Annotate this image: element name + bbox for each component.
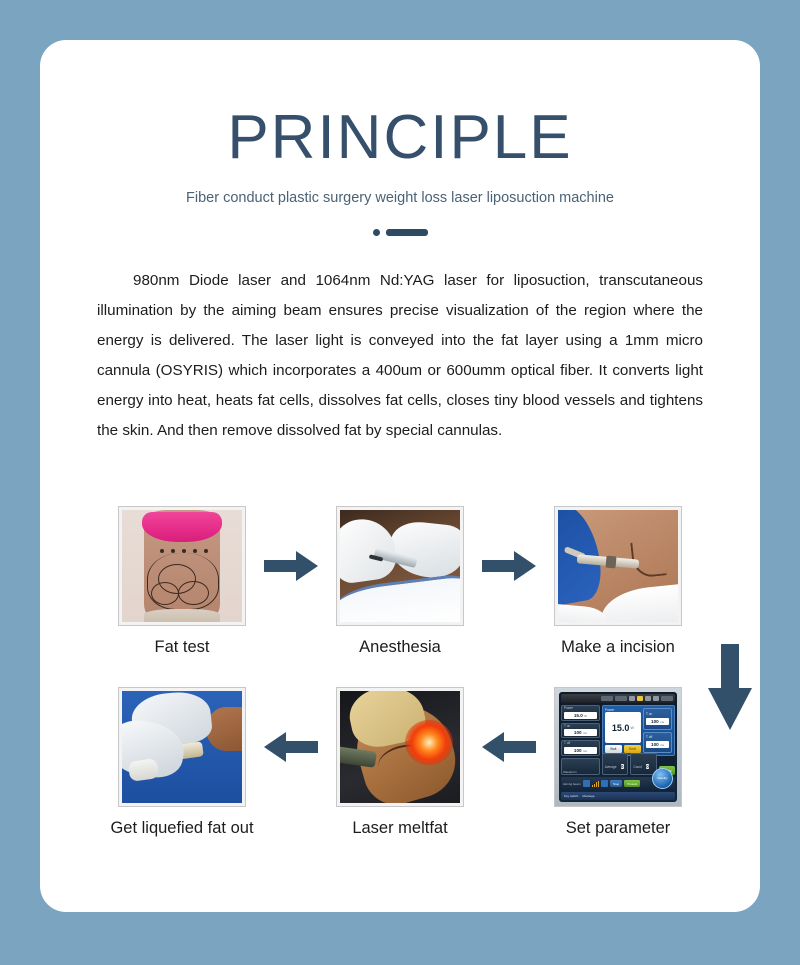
power-control-panel: Power 15.0W Wait Emit bbox=[602, 705, 675, 756]
count-label: Count bbox=[633, 765, 642, 769]
workflow-step-anesthesia: Anesthesia bbox=[327, 506, 473, 657]
page-title: PRINCIPLE bbox=[40, 40, 760, 170]
workflow-row-bottom: Get liquefied fat out bbox=[40, 687, 760, 838]
timing-readout-group: T on 100 ms T off 100 ms bbox=[643, 708, 672, 753]
arrow-right-icon bbox=[264, 551, 318, 581]
anesthesia-thumbnail bbox=[336, 506, 464, 626]
arrow-set-parameter-to-meltfat bbox=[473, 687, 545, 807]
presets-button[interactable]: Presets bbox=[624, 780, 640, 787]
page-subtitle: Fiber conduct plastic surgery weight los… bbox=[40, 170, 760, 206]
aiming-beam-toggle-icon[interactable] bbox=[583, 780, 590, 787]
t-off-value: 100 ms bbox=[646, 741, 669, 748]
incision-photo bbox=[558, 510, 678, 622]
set-parameter-caption: Set parameter bbox=[566, 819, 671, 838]
statusbar-icon bbox=[661, 696, 673, 701]
statusbar-icon bbox=[601, 696, 613, 701]
liquefied-fat-caption: Get liquefied fat out bbox=[110, 819, 253, 838]
arrow-meltfat-to-liquefied-fat bbox=[255, 687, 327, 807]
count-value: 0 bbox=[646, 764, 649, 769]
laser-meltfat-thumbnail bbox=[336, 687, 464, 807]
waveform-label: Waveform bbox=[563, 770, 577, 774]
fat-test-thumbnail bbox=[118, 506, 246, 626]
description-paragraph: 980nm Diode laser and 1064nm Nd:YAG lase… bbox=[40, 236, 760, 446]
divider-ornament bbox=[40, 206, 760, 236]
average-label: Average bbox=[605, 765, 617, 769]
divider-bar-icon bbox=[386, 229, 428, 236]
standby-button[interactable]: Standby bbox=[652, 768, 673, 789]
power-readout-group: Power 15.0W Wait Emit bbox=[605, 708, 641, 753]
side-t-off-label: T off bbox=[564, 742, 597, 746]
machine-message-bar: Key switch Message bbox=[561, 792, 675, 800]
incision-caption: Make a incision bbox=[561, 638, 675, 657]
average-control[interactable]: Average 0 bbox=[602, 753, 629, 775]
side-power-label: Power bbox=[564, 707, 597, 711]
aiming-beam-label: Aiming beam bbox=[563, 782, 581, 786]
workflow-step-laser-meltfat: Laser meltfat bbox=[327, 687, 473, 838]
arrow-left-icon bbox=[482, 732, 536, 762]
content-card: PRINCIPLE Fiber conduct plastic surgery … bbox=[40, 40, 760, 912]
message-status: Message bbox=[582, 794, 594, 798]
liquefied-fat-photo bbox=[122, 691, 242, 803]
t-on-control[interactable]: T on 100 ms bbox=[643, 708, 672, 730]
emit-button[interactable]: Emit bbox=[624, 745, 641, 753]
statusbar-icon bbox=[653, 696, 659, 701]
stop-button[interactable]: Stop bbox=[610, 780, 622, 787]
divider-dot-icon bbox=[373, 229, 380, 236]
workflow-step-set-parameter: Power 15.0 W T on 100 ms T off bbox=[545, 687, 691, 838]
t-off-label: T off bbox=[646, 736, 669, 740]
key-switch-status: Key switch bbox=[564, 794, 578, 798]
page-background: PRINCIPLE Fiber conduct plastic surgery … bbox=[0, 0, 800, 965]
side-tile-power[interactable]: Power 15.0 W bbox=[561, 705, 600, 721]
t-on-value: 100 ms bbox=[646, 718, 669, 725]
machine-side-tiles: Power 15.0 W T on 100 ms T off bbox=[561, 705, 600, 756]
liquefied-fat-thumbnail bbox=[118, 687, 246, 807]
workflow-diagram: Fat test bbox=[40, 506, 760, 838]
side-t-on-value: 100 ms bbox=[564, 729, 597, 736]
set-parameter-photo: Power 15.0 W T on 100 ms T off bbox=[559, 692, 677, 802]
workflow-row-top: Fat test bbox=[40, 506, 760, 657]
laser-meltfat-photo bbox=[340, 691, 460, 803]
workflow-step-fat-test: Fat test bbox=[109, 506, 255, 657]
statusbar-warning-icon bbox=[637, 696, 643, 701]
arrow-right-icon bbox=[482, 551, 536, 581]
side-tile-t-on[interactable]: T on 100 ms bbox=[561, 723, 600, 739]
waveform-mode-selector[interactable]: Waveform bbox=[561, 758, 600, 775]
workflow-step-liquefied-fat: Get liquefied fat out bbox=[109, 687, 255, 838]
t-on-label: T on bbox=[646, 713, 669, 717]
anesthesia-caption: Anesthesia bbox=[359, 638, 441, 657]
side-tile-t-off[interactable]: T off 100 ms bbox=[561, 740, 600, 756]
arrow-anesthesia-to-incision bbox=[473, 506, 545, 626]
fat-test-caption: Fat test bbox=[154, 638, 209, 657]
incision-thumbnail bbox=[554, 506, 682, 626]
laser-meltfat-caption: Laser meltfat bbox=[352, 819, 447, 838]
aiming-beam-level-icon[interactable] bbox=[592, 780, 600, 787]
statusbar-icon bbox=[645, 696, 651, 701]
anesthesia-photo bbox=[340, 510, 460, 622]
power-value: 15.0W bbox=[605, 712, 641, 743]
workflow-step-incision: Make a incision bbox=[545, 506, 691, 657]
arrow-left-icon bbox=[264, 732, 318, 762]
statusbar-icon bbox=[629, 696, 635, 701]
aiming-beam-increase-icon[interactable] bbox=[601, 780, 608, 787]
set-parameter-thumbnail: Power 15.0 W T on 100 ms T off bbox=[554, 687, 682, 807]
side-power-value: 15.0 W bbox=[564, 712, 597, 719]
machine-statusbar bbox=[561, 694, 675, 703]
side-t-off-value: 100 ms bbox=[564, 747, 597, 754]
side-t-on-label: T on bbox=[564, 725, 597, 729]
statusbar-icon bbox=[615, 696, 627, 701]
machine-toolbar: Aiming beam Stop Presets Standby bbox=[561, 777, 675, 790]
wait-button[interactable]: Wait bbox=[605, 745, 622, 753]
average-value: 0 bbox=[621, 764, 624, 769]
arrow-fat-test-to-anesthesia bbox=[255, 506, 327, 626]
machine-primary-controls: Power 15.0W Wait Emit bbox=[602, 705, 675, 756]
machine-main-area: Power 15.0 W T on 100 ms T off bbox=[561, 703, 675, 756]
power-mode-buttons: Wait Emit bbox=[605, 745, 641, 753]
t-off-control[interactable]: T off 100 ms bbox=[643, 732, 672, 754]
fat-test-photo bbox=[122, 510, 242, 622]
